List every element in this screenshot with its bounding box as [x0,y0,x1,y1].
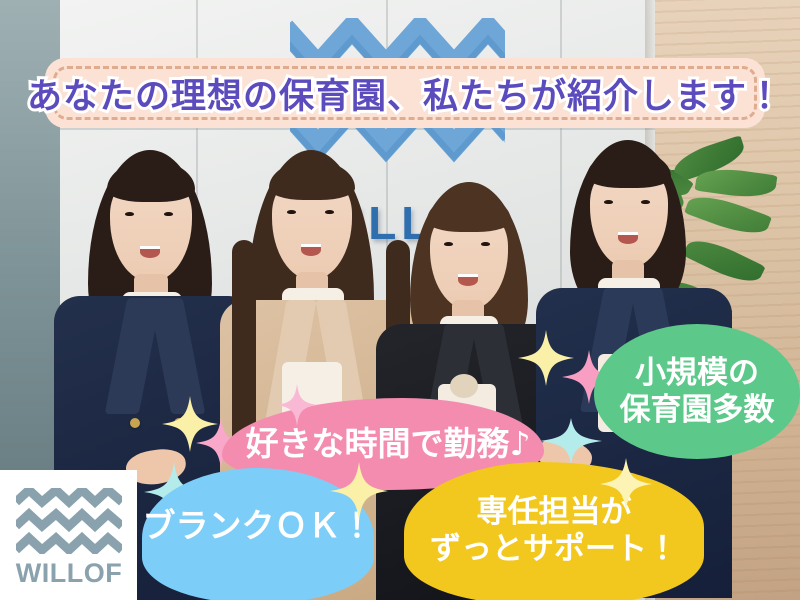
callout-line: ずっとサポート！ [430,531,678,568]
callout-line: 好きな時間で勤務♪ [245,425,530,464]
callout-line: 保育園多数 [620,392,775,429]
headline-banner: あなたの理想の保育園、私たちが紹介します！ [45,58,765,128]
callout-dedicated-support: 専任担当が ずっとサポート！ [404,462,704,600]
willof-chevron-icon [16,488,122,554]
callout-small-nurseries: 小規模の 保育園多数 [594,324,800,459]
brand-logo-card: WILLOF [0,470,137,600]
callout-line: 専任担当が [430,494,678,531]
advertisement-banner: WILLOF [0,0,800,600]
callout-blank-ok: ブランクＯＫ！ [142,468,374,600]
brand-logo-text: WILLOF [14,558,124,589]
callout-line: ブランクＯＫ！ [143,507,374,546]
headline-text: あなたの理想の保育園、私たちが紹介します！ [45,58,765,128]
callout-line: 小規模の [620,355,775,392]
